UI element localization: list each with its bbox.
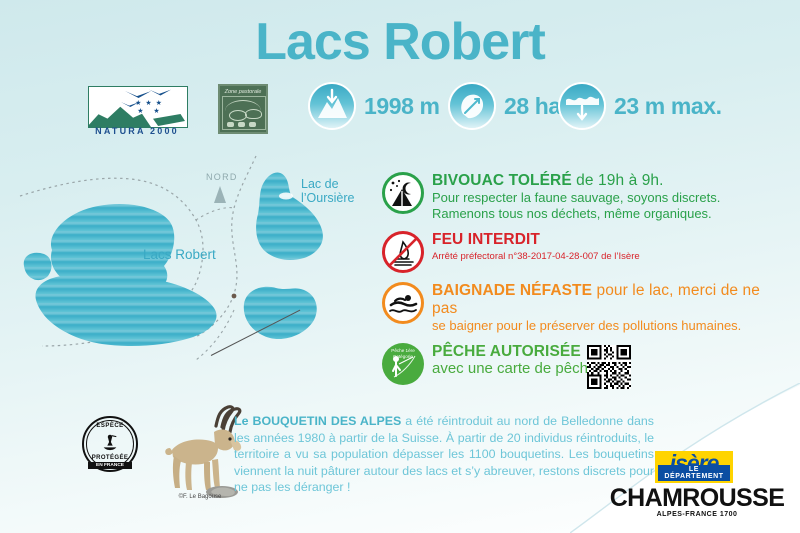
espece-protegee-stamp: ESPÈCE PROTÉGÉE EN FRANCE <box>82 416 138 472</box>
rule-feu-line1: Arrêté préfectoral n°38-2017-04-28-007 d… <box>432 249 782 265</box>
zone-pastorale-pictogram <box>222 96 266 130</box>
sheep-icon <box>249 122 256 127</box>
rule-peche: Pêche 1ère Catégorie PÊCHE AUTORISÉE ave… <box>382 343 782 385</box>
chamrousse-sub-text: ALPES-FRANCE <box>657 511 718 518</box>
rule-bivouac-line2: Ramenons tous nos déchets, même organiqu… <box>432 206 782 222</box>
rule-bivouac: BIVOUAC TOLÉRÉ de 19h à 9h. Pour respect… <box>382 172 782 222</box>
sheep-icon <box>238 122 245 127</box>
natura-2000-logo: ★ ★ ★★ ★ NATURA 2000 <box>88 86 186 140</box>
chamrousse-logo-sub: ALPES-FRANCE 1700 <box>607 511 787 518</box>
map-north-label: NORD <box>206 170 238 184</box>
heron-icon <box>101 433 119 453</box>
poster-root: Lacs Robert ★ ★ ★★ ★ NATURA 2000 Zone pa… <box>0 0 800 533</box>
rule-baignade-title: BAIGNADE NÉFASTE pour le lac, merci de n… <box>432 282 782 318</box>
fishing-allowed-icon: Pêche 1ère Catégorie <box>382 343 424 385</box>
chamrousse-logo-word: CHAMROUSSE <box>607 485 787 511</box>
altitude-mountain-icon <box>310 84 354 128</box>
stat-area-value: 28 ha <box>504 93 561 120</box>
eu-stars-icon: ★ ★ ★★ ★ <box>129 100 169 118</box>
bouquetin-paragraph: Le BOUQUETIN DES ALPES a été réintroduit… <box>234 413 654 496</box>
rule-bivouac-title: BIVOUAC TOLÉRÉ de 19h à 9h. <box>432 172 782 190</box>
chamrousse-year: 1700 <box>720 511 738 518</box>
bird-icon <box>125 91 151 98</box>
lakes-map: NORD Lacs Robert Lac de l’Oursière <box>18 150 383 400</box>
rule-baignade: BAIGNADE NÉFASTE pour le lac, merci de n… <box>382 282 782 334</box>
zone-pastorale-label: Zone pastorale <box>222 89 264 95</box>
fishing-badge: Pêche 1ère Catégorie <box>382 343 424 385</box>
rule-baignade-head: BAIGNADE NÉFASTE <box>432 282 592 299</box>
top-badge-row: ★ ★ ★★ ★ NATURA 2000 Zone pastorale <box>0 84 800 142</box>
stamp-top-text: ESPÈCE <box>82 423 138 429</box>
rule-feu-head: FEU INTERDIT <box>432 231 540 248</box>
pasture-shape-icon <box>245 109 262 119</box>
stat-depth-value: 23 m max. <box>614 93 722 120</box>
map-point-marker <box>232 294 237 299</box>
rule-baignade-line1: se baigner pour le préserver des polluti… <box>432 318 782 334</box>
no-swimming-icon <box>382 282 424 324</box>
page-title: Lacs Robert <box>0 16 800 68</box>
zone-pastorale-sign: Zone pastorale <box>218 84 268 134</box>
rules-list: BIVOUAC TOLÉRÉ de 19h à 9h. Pour respect… <box>382 172 782 394</box>
map-label-oursiere-line2: l’Oursière <box>301 191 355 205</box>
isere-logo-strip: LE DÉPARTEMENT <box>658 465 730 481</box>
map-label-lacs-robert: Lacs Robert <box>143 248 216 262</box>
rule-bivouac-line1: Pour respecter la faune sauvage, soyons … <box>432 190 782 206</box>
rule-bivouac-head: BIVOUAC TOLÉRÉ <box>432 172 572 189</box>
rule-feu-title: FEU INTERDIT <box>432 231 782 249</box>
stamp-bottom-text: PROTÉGÉE <box>82 455 138 461</box>
stat-altitude-value: 1998 m <box>364 93 440 120</box>
sheep-icon <box>227 122 234 127</box>
no-fire-icon <box>382 231 424 273</box>
map-label-oursiere-line1: Lac de <box>301 177 339 191</box>
chamrousse-logo: CHAMROUSSE ALPES-FRANCE 1700 <box>607 485 787 518</box>
isere-logo: isère LE DÉPARTEMENT <box>655 451 733 483</box>
rule-feu: FEU INTERDIT Arrêté préfectoral n°38-201… <box>382 231 782 273</box>
natura-logo-frame: ★ ★ ★★ ★ <box>88 86 188 128</box>
bouquetin-lead: Le BOUQUETIN DES ALPES <box>234 414 401 428</box>
surface-area-icon <box>450 84 494 128</box>
natura-logo-label: NATURA 2000 <box>88 126 186 136</box>
map-label-lac-oursiere: Lac de l’Oursière <box>301 177 355 205</box>
bird-icon <box>149 90 171 96</box>
depth-icon <box>560 84 604 128</box>
north-arrow-icon <box>214 186 226 203</box>
rule-bivouac-head-normal: de 19h à 9h. <box>572 172 664 189</box>
tent-night-icon <box>382 172 424 214</box>
rule-peche-head: PÊCHE AUTORISÉE <box>432 343 581 360</box>
stamp-band-text: EN FRANCE <box>88 462 132 469</box>
